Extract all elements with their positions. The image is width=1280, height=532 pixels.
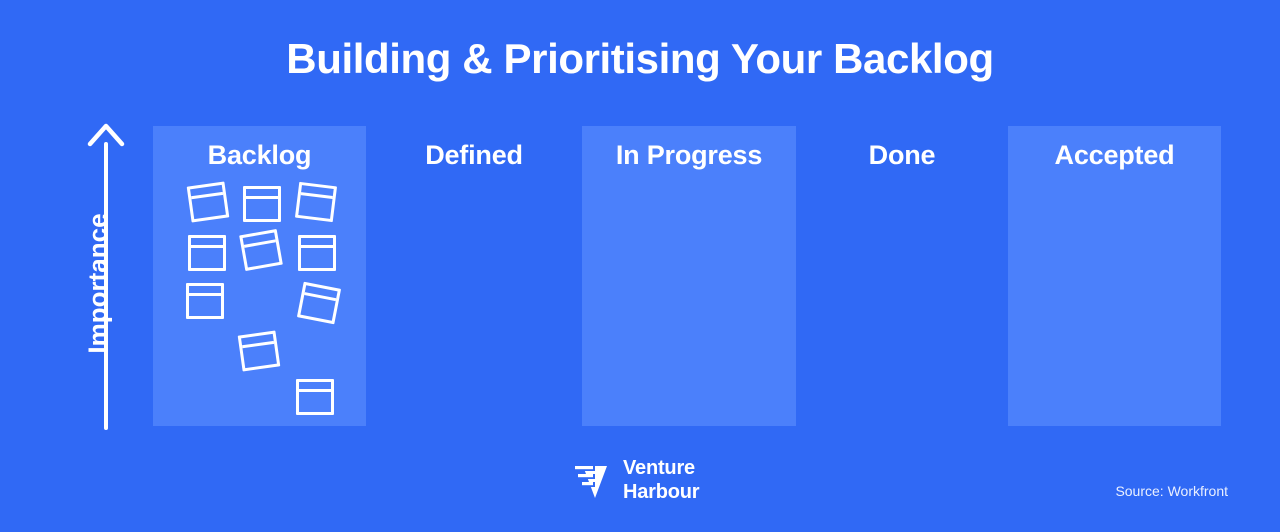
board-column-in-progress[interactable]: In Progress	[582, 126, 796, 426]
backlog-card[interactable]	[297, 282, 341, 325]
column-title: Backlog	[153, 140, 366, 171]
importance-axis: Importance	[62, 120, 142, 430]
column-title: Defined	[366, 140, 582, 171]
slide-canvas: Building & Prioritising Your Backlog Imp…	[0, 0, 1280, 532]
backlog-card[interactable]	[243, 186, 281, 222]
backlog-card[interactable]	[238, 331, 281, 372]
backlog-card[interactable]	[295, 182, 337, 222]
backlog-card[interactable]	[188, 235, 226, 271]
backlog-card[interactable]	[298, 235, 336, 271]
backlog-card[interactable]	[296, 379, 334, 415]
board-column-backlog[interactable]: Backlog	[153, 126, 366, 426]
axis-label: Importance	[83, 164, 114, 404]
backlog-card[interactable]	[187, 182, 230, 223]
logo-wordmark: Venture Harbour	[623, 456, 699, 504]
backlog-card[interactable]	[186, 283, 224, 319]
logo-line-1: Venture	[623, 456, 699, 480]
column-title: In Progress	[582, 140, 796, 171]
board-column-defined[interactable]: Defined	[366, 126, 582, 426]
backlog-card[interactable]	[239, 229, 283, 271]
column-title: Done	[796, 140, 1008, 171]
venture-harbour-logo-icon	[573, 460, 617, 500]
source-credit: Source: Workfront	[1115, 483, 1228, 499]
board-column-done[interactable]: Done	[796, 126, 1008, 426]
logo-line-2: Harbour	[623, 480, 699, 504]
board-column-accepted[interactable]: Accepted	[1008, 126, 1221, 426]
page-title: Building & Prioritising Your Backlog	[0, 31, 1280, 87]
venture-harbour-logo: Venture Harbour	[573, 456, 723, 506]
column-title: Accepted	[1008, 140, 1221, 171]
